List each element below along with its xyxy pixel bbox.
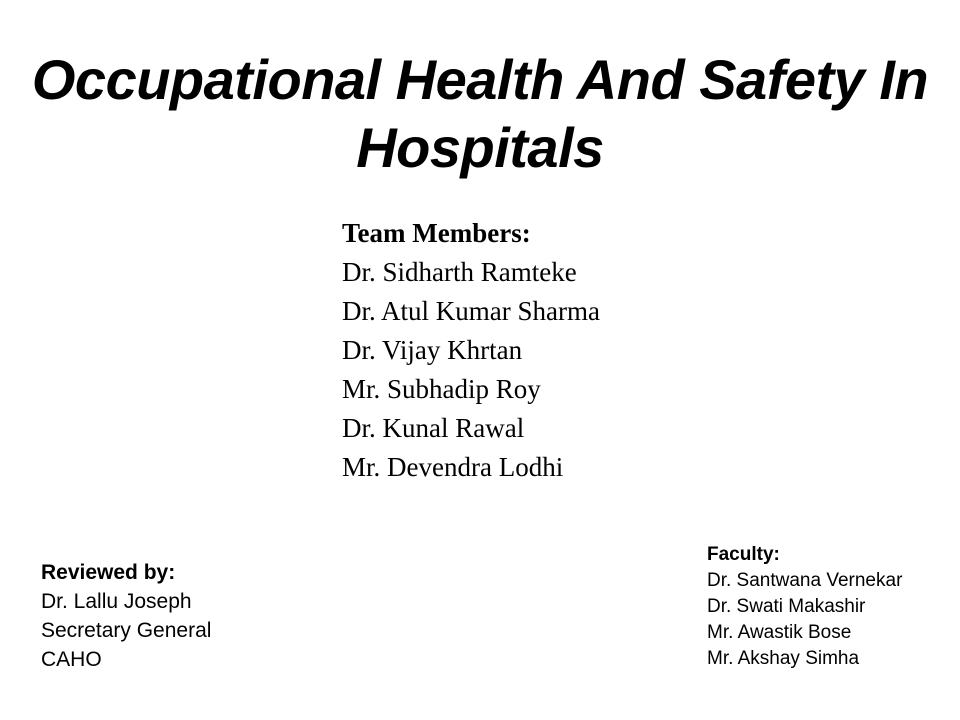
- team-member-item: Mr. Devendra Lodhi: [342, 448, 600, 487]
- faculty-item: Mr. Akshay Simha: [707, 646, 902, 672]
- faculty-item: Mr. Awastik Bose: [707, 620, 902, 646]
- team-member-item: Dr. Kunal Rawal: [342, 409, 600, 448]
- faculty-heading: Faculty:: [707, 542, 902, 568]
- team-member-item: Dr. Atul Kumar Sharma: [342, 292, 600, 331]
- slide-title-line-2: Hospitals: [30, 114, 930, 182]
- team-member-item: Dr. Vijay Khrtan: [342, 331, 600, 370]
- slide-title: Occupational Health And Safety In Hospit…: [30, 46, 930, 182]
- team-members-heading: Team Members:: [342, 214, 600, 253]
- faculty-item: Dr. Santwana Vernekar: [707, 568, 902, 594]
- reviewed-by-item: Secretary General: [41, 616, 211, 645]
- reviewed-by-block: Reviewed by: Dr. Lallu Joseph Secretary …: [41, 558, 211, 674]
- team-member-item: Dr. Sidharth Ramteke: [342, 253, 600, 292]
- team-members-block: Team Members: Dr. Sidharth Ramteke Dr. A…: [342, 214, 600, 487]
- reviewed-by-item: CAHO: [41, 645, 211, 674]
- faculty-item: Dr. Swati Makashir: [707, 594, 902, 620]
- team-member-item: Mr. Subhadip Roy: [342, 370, 600, 409]
- presentation-slide: Occupational Health And Safety In Hospit…: [0, 0, 960, 720]
- reviewed-by-heading: Reviewed by:: [41, 558, 211, 587]
- faculty-block: Faculty: Dr. Santwana Vernekar Dr. Swati…: [707, 542, 902, 672]
- reviewed-by-item: Dr. Lallu Joseph: [41, 587, 211, 616]
- slide-title-line-1: Occupational Health And Safety In: [30, 46, 930, 114]
